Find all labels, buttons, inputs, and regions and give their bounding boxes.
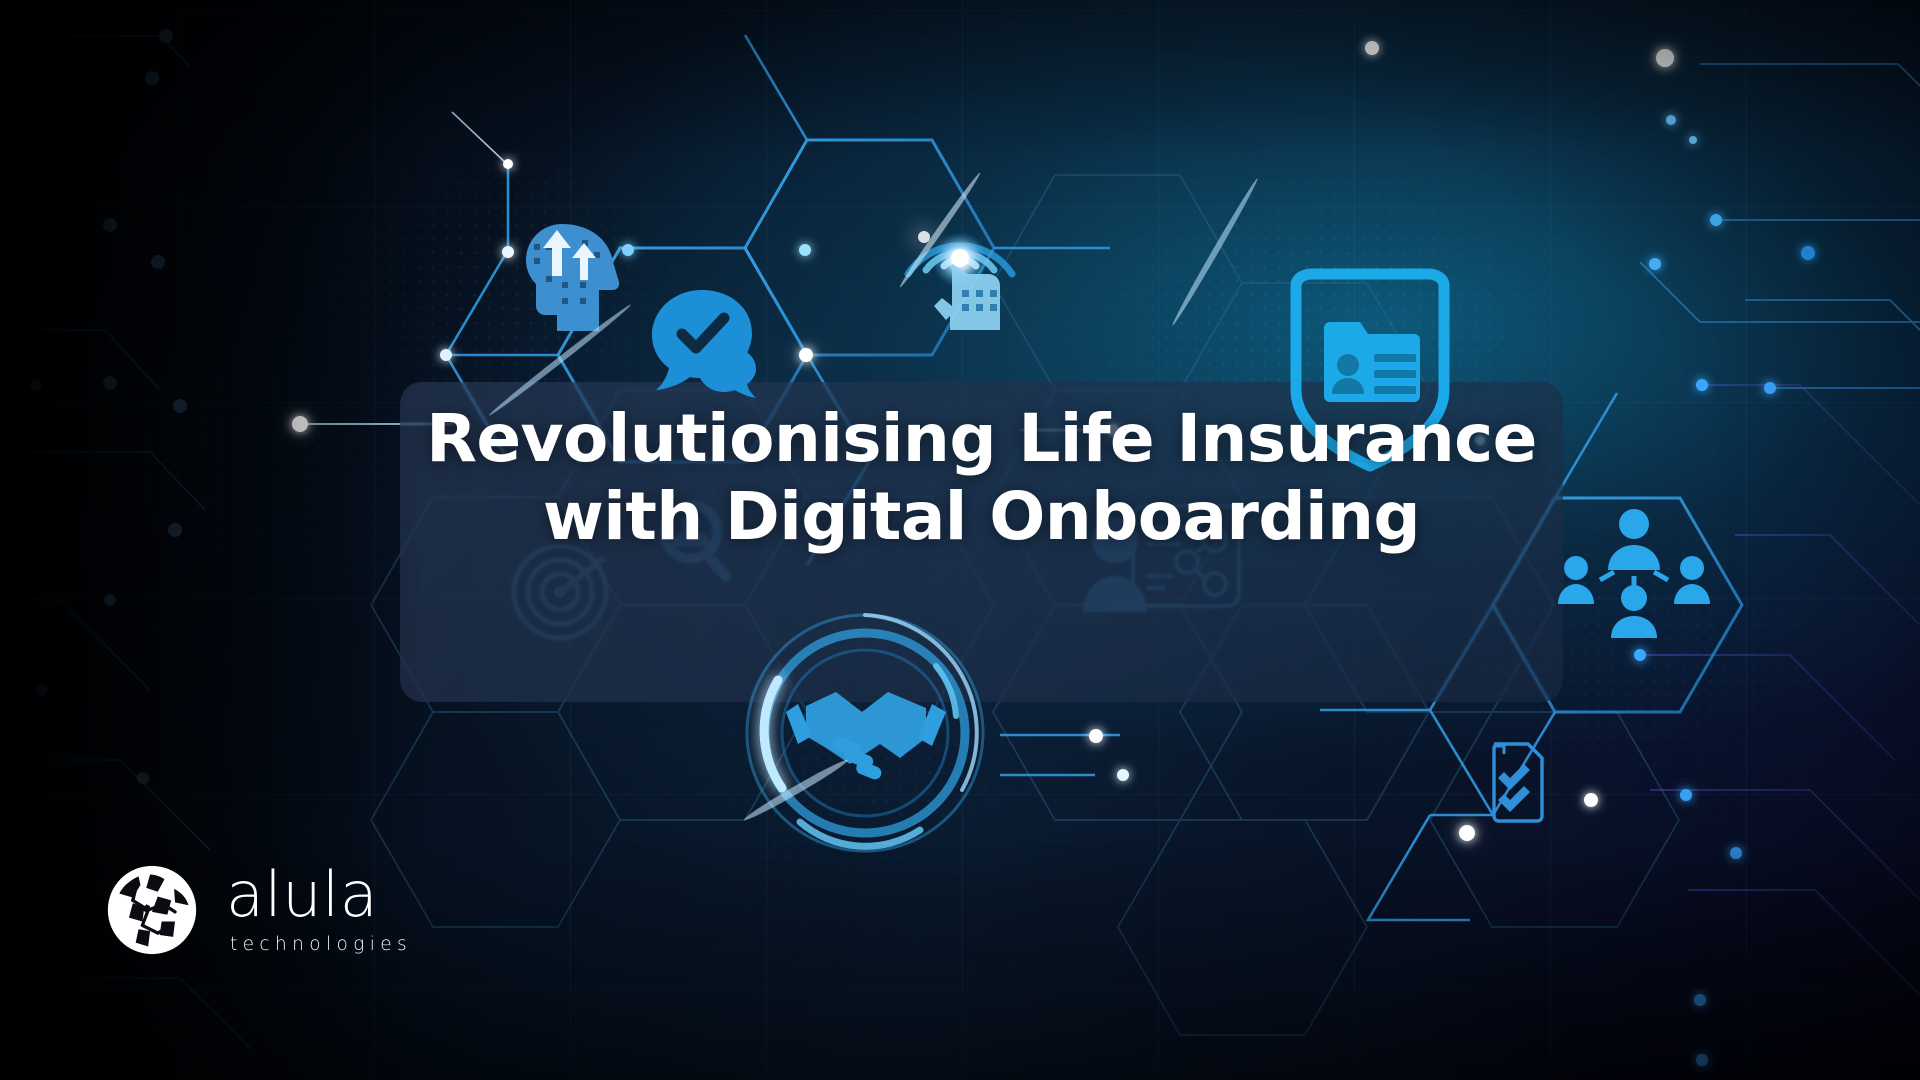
brand-name: alula — [226, 865, 412, 926]
hero-title-line-1: Revolutionising Life Insurance — [400, 400, 1563, 478]
brand-wordmark: alula technologies — [226, 865, 412, 956]
hero-banner: Revolutionising Life Insurance with Digi… — [0, 0, 1920, 1080]
hero-title-line-2: with Digital Onboarding — [400, 478, 1563, 556]
alula-globe-mark-icon — [104, 862, 200, 958]
brand-logo[interactable]: alula technologies — [104, 862, 412, 958]
brand-tagline: technologies — [230, 934, 412, 955]
hero-title: Revolutionising Life Insurance with Digi… — [400, 400, 1563, 556]
